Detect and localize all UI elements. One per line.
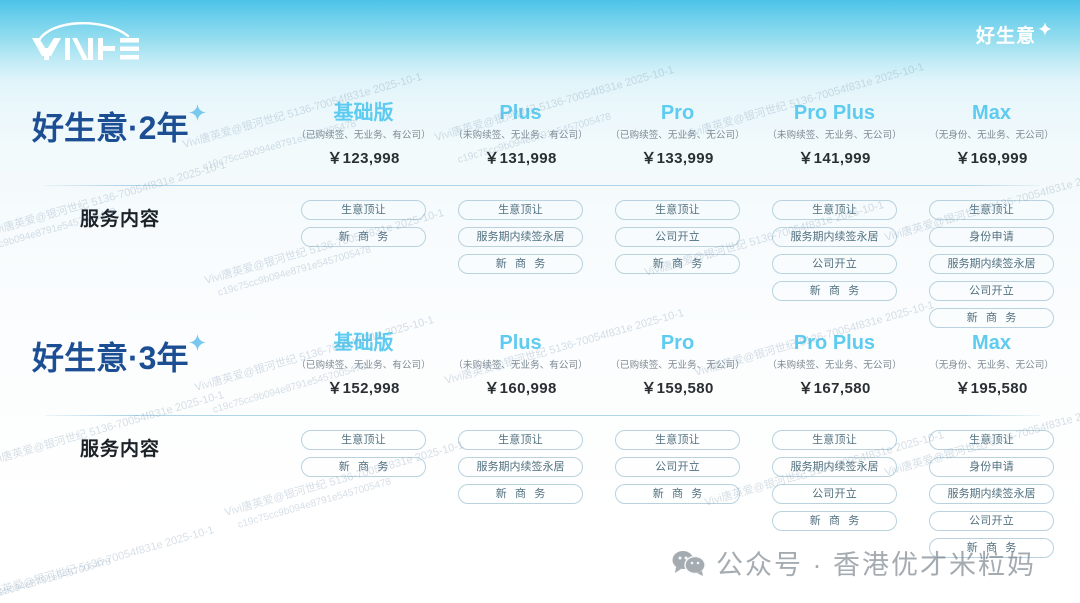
plan-name: Pro <box>599 100 756 126</box>
plan-name: Max <box>913 100 1070 126</box>
service-tags-max: 生意顶让 身份申请 服务期内续签永居 公司开立 新 商 务 <box>913 200 1070 328</box>
service-tag[interactable]: 公司开立 <box>772 484 897 504</box>
service-tag[interactable]: 新 商 务 <box>301 227 426 247</box>
plan-price: ￥159,580 <box>599 378 756 400</box>
service-tag[interactable]: 服务期内续签永居 <box>772 227 897 247</box>
service-tags-basic: 生意顶让 新 商 务 <box>285 430 442 558</box>
service-content-label: 服务内容 <box>80 204 160 231</box>
section-header: 好生意·3年 基础版 （已购续签、无业务、有公司） ￥152,998 Plus … <box>0 330 1080 410</box>
section-title: 好生意·2年 <box>32 112 206 144</box>
service-tag[interactable]: 新 商 务 <box>772 281 897 301</box>
plan-desc: （已购续签、无业务、有公司） <box>288 358 439 373</box>
plan-price: ￥131,998 <box>442 148 599 170</box>
section-title-text: 好生意·3年 <box>32 342 188 374</box>
brand-tagline: 好生意 <box>976 27 1052 46</box>
service-tag[interactable]: 生意顶让 <box>772 200 897 220</box>
plan-column-basic[interactable]: 基础版 （已购续签、无业务、有公司） ￥123,998 <box>285 100 442 170</box>
service-tag[interactable]: 生意顶让 <box>301 200 426 220</box>
service-tag[interactable]: 新 商 务 <box>458 484 583 504</box>
plan-desc: （无身份、无业务、无公司） <box>916 128 1067 143</box>
service-tag[interactable]: 服务期内续签永居 <box>458 457 583 477</box>
service-tag[interactable]: 新 商 务 <box>929 308 1054 328</box>
service-tags-pro: 生意顶让 公司开立 新 商 务 <box>599 430 756 558</box>
plan-desc: （未购续签、无业务、无公司） <box>759 128 910 143</box>
plan-column-basic[interactable]: 基础版 （已购续签、无业务、有公司） ￥152,998 <box>285 330 442 400</box>
plan-column-pro[interactable]: Pro （已购续签、无业务、无公司） ￥159,580 <box>599 330 756 400</box>
plan-price: ￥169,999 <box>913 148 1070 170</box>
service-tag[interactable]: 生意顶让 <box>458 430 583 450</box>
plan-section-3year: 好生意·3年 基础版 （已购续签、无业务、有公司） ￥152,998 Plus … <box>0 330 1080 410</box>
plan-price: ￥133,999 <box>599 148 756 170</box>
plan-column-pro-plus[interactable]: Pro Plus （未购续签、无业务、无公司） ￥167,580 <box>756 330 913 400</box>
service-tag[interactable]: 新 商 务 <box>458 254 583 274</box>
service-tag[interactable]: 服务期内续签永居 <box>772 457 897 477</box>
plan-desc: （未购续签、无业务、无公司） <box>759 358 910 373</box>
plan-desc: （已购续签、无业务、无公司） <box>602 358 753 373</box>
plan-column-max[interactable]: Max （无身份、无业务、无公司） ￥195,580 <box>913 330 1070 400</box>
section-header: 好生意·2年 基础版 （已购续签、无业务、有公司） ￥123,998 Plus … <box>0 100 1080 180</box>
service-tag[interactable]: 生意顶让 <box>615 430 740 450</box>
service-tag[interactable]: 生意顶让 <box>458 200 583 220</box>
plan-price: ￥160,998 <box>442 378 599 400</box>
service-tag[interactable]: 公司开立 <box>929 281 1054 301</box>
plan-column-plus[interactable]: Plus （未购续签、无业务、有公司） ￥160,998 <box>442 330 599 400</box>
service-tags-max: 生意顶让 身份申请 服务期内续签永居 公司开立 新 商 务 <box>913 430 1070 558</box>
plan-section-2year: 好生意·2年 基础版 （已购续签、无业务、有公司） ￥123,998 Plus … <box>0 100 1080 180</box>
service-tag[interactable]: 身份申请 <box>929 457 1054 477</box>
plan-name: Plus <box>442 100 599 126</box>
plan-desc: （已购续签、无业务、有公司） <box>288 128 439 143</box>
section-divider <box>45 415 1040 416</box>
service-tag[interactable]: 生意顶让 <box>772 430 897 450</box>
sparkle-icon <box>1038 22 1052 36</box>
plan-name: Pro Plus <box>756 100 913 126</box>
plan-price: ￥152,998 <box>285 378 442 400</box>
service-tag[interactable]: 生意顶让 <box>301 430 426 450</box>
sparkle-icon <box>189 104 206 121</box>
service-tag[interactable]: 服务期内续签永居 <box>929 484 1054 504</box>
plan-column-pro[interactable]: Pro （已购续签、无业务、无公司） ￥133,999 <box>599 100 756 170</box>
yinhe-logo <box>28 20 140 62</box>
service-tag[interactable]: 生意顶让 <box>929 430 1054 450</box>
plan-name: Plus <box>442 330 599 356</box>
service-tag[interactable]: 公司开立 <box>615 227 740 247</box>
service-tags-basic: 生意顶让 新 商 务 <box>285 200 442 328</box>
plan-desc: （无身份、无业务、无公司） <box>916 358 1067 373</box>
page-header: 好生意 <box>0 0 1080 78</box>
service-tag[interactable]: 生意顶让 <box>929 200 1054 220</box>
pricing-poster: 好生意 好生意·2年 基础版 （已购续签、无业务、 <box>0 0 1080 603</box>
service-tag[interactable]: 公司开立 <box>929 511 1054 531</box>
plan-column-plus[interactable]: Plus （未购续签、无业务、有公司） ￥131,998 <box>442 100 599 170</box>
service-tag[interactable]: 新 商 务 <box>615 254 740 274</box>
section-title: 好生意·3年 <box>32 342 206 374</box>
plan-price: ￥195,580 <box>913 378 1070 400</box>
plan-column-max[interactable]: Max （无身份、无业务、无公司） ￥169,999 <box>913 100 1070 170</box>
service-tags-plus: 生意顶让 服务期内续签永居 新 商 务 <box>442 200 599 328</box>
service-tag-columns: 生意顶让 新 商 务 生意顶让 服务期内续签永居 新 商 务 生意顶让 公司开立… <box>285 430 1073 558</box>
service-tag[interactable]: 身份申请 <box>929 227 1054 247</box>
plan-name: Max <box>913 330 1070 356</box>
service-tag[interactable]: 新 商 务 <box>301 457 426 477</box>
watermark-text: Vivi唐英爱@银河世纪 5136-70054f831e 2025-10-1 <box>0 521 216 603</box>
plan-desc: （已购续签、无业务、无公司） <box>602 128 753 143</box>
service-tags-plus: 生意顶让 服务期内续签永居 新 商 务 <box>442 430 599 558</box>
plan-columns: 基础版 （已购续签、无业务、有公司） ￥123,998 Plus （未购续签、无… <box>285 100 1073 170</box>
service-tags-pro: 生意顶让 公司开立 新 商 务 <box>599 200 756 328</box>
service-tag[interactable]: 公司开立 <box>772 254 897 274</box>
service-tag[interactable]: 服务期内续签永居 <box>929 254 1054 274</box>
section-title-text: 好生意·2年 <box>32 112 188 144</box>
service-tag-columns: 生意顶让 新 商 务 生意顶让 服务期内续签永居 新 商 务 生意顶让 公司开立… <box>285 200 1073 328</box>
plan-name: 基础版 <box>285 100 442 126</box>
plan-price: ￥141,999 <box>756 148 913 170</box>
service-tag[interactable]: 生意顶让 <box>615 200 740 220</box>
arc-logo-icon <box>28 20 140 62</box>
service-tags-pro-plus: 生意顶让 服务期内续签永居 公司开立 新 商 务 <box>756 200 913 328</box>
plan-price: ￥167,580 <box>756 378 913 400</box>
plan-name: Pro <box>599 330 756 356</box>
service-tag[interactable]: 新 商 务 <box>615 484 740 504</box>
plan-price: ￥123,998 <box>285 148 442 170</box>
service-tag[interactable]: 服务期内续签永居 <box>458 227 583 247</box>
watermark-text: c19c75cc9b094e8791e5457005478 <box>0 556 112 603</box>
service-tag[interactable]: 新 商 务 <box>929 538 1054 558</box>
plan-desc: （未购续签、无业务、有公司） <box>445 358 596 373</box>
plan-name: 基础版 <box>285 330 442 356</box>
plan-desc: （未购续签、无业务、有公司） <box>445 128 596 143</box>
service-tag[interactable]: 公司开立 <box>615 457 740 477</box>
service-tag[interactable]: 新 商 务 <box>772 511 897 531</box>
plan-name: Pro Plus <box>756 330 913 356</box>
service-content-label: 服务内容 <box>80 434 160 461</box>
plan-column-pro-plus[interactable]: Pro Plus （未购续签、无业务、无公司） ￥141,999 <box>756 100 913 170</box>
plan-columns: 基础版 （已购续签、无业务、有公司） ￥152,998 Plus （未购续签、无… <box>285 330 1073 400</box>
section-divider <box>45 185 1040 186</box>
sparkle-icon <box>189 334 206 351</box>
brand-tagline-text: 好生意 <box>976 27 1036 46</box>
service-tags-pro-plus: 生意顶让 服务期内续签永居 公司开立 新 商 务 <box>756 430 913 558</box>
